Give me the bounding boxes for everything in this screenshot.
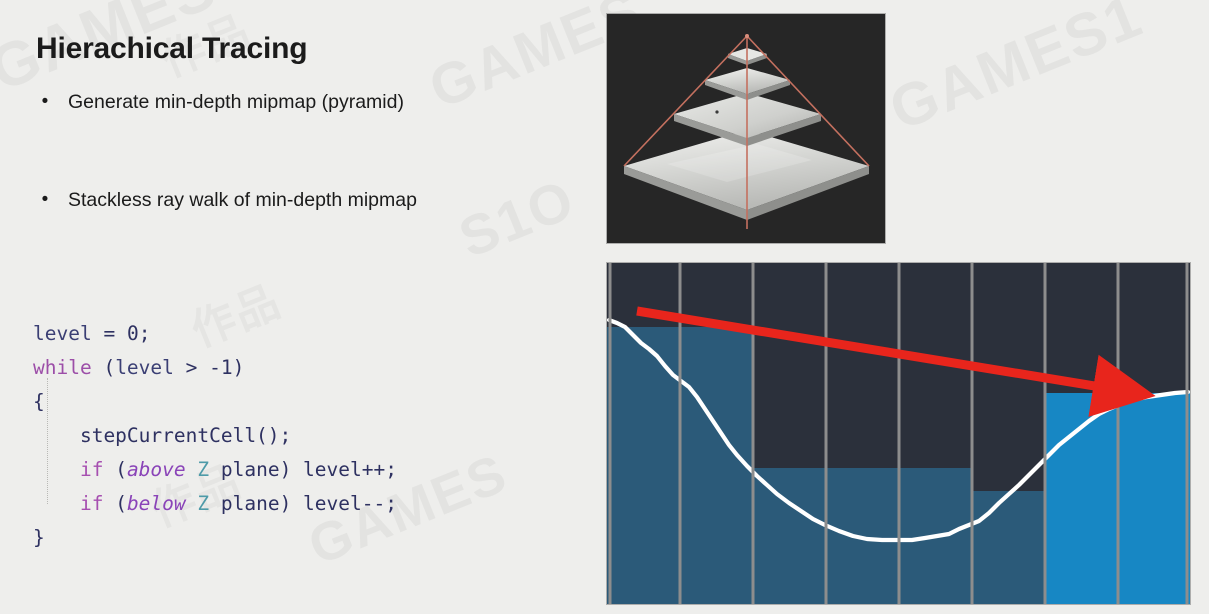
cell-fill-1: [680, 327, 753, 604]
cell-fill-7: [1118, 393, 1190, 604]
bullet-marker-icon: •: [36, 188, 54, 212]
code-token: plane) level--;: [209, 492, 397, 515]
pyramid-figure-image: [607, 14, 885, 243]
code-token: ;: [139, 322, 151, 345]
bullet-item-1: • Stackless ray walk of min-depth mipmap: [36, 188, 417, 212]
code-line-0: level = 0;: [33, 317, 397, 351]
bullet-item-0: • Generate min-depth mipmap (pyramid): [36, 90, 404, 114]
pyramid-illustration: [607, 14, 885, 243]
page-title: Hierachical Tracing: [36, 32, 307, 66]
slide-left-column: Hierachical Tracing • Generate min-depth…: [0, 0, 600, 614]
code-token: Z: [197, 492, 209, 515]
code-token: level: [115, 356, 174, 379]
code-line-3: stepCurrentCell();: [33, 419, 397, 453]
code-token: (: [103, 492, 126, 515]
code-snippet: level = 0;while (level > -1){ stepCurren…: [33, 317, 397, 555]
bullet-text-0: Generate min-depth mipmap (pyramid): [68, 90, 404, 114]
code-token: [186, 492, 198, 515]
slide-canvas: Hierachical Tracing • Generate min-depth…: [0, 0, 1209, 614]
bullet-text-1: Stackless ray walk of min-depth mipmap: [68, 188, 417, 212]
code-token: (: [103, 458, 126, 481]
pyramid-speck: [715, 110, 718, 113]
mipmap-cells-illustration: [607, 263, 1190, 604]
code-token: 0: [127, 322, 139, 345]
code-token: [33, 492, 80, 515]
code-token: above: [127, 458, 186, 481]
code-token: -1: [209, 356, 232, 379]
cell-fill-5: [972, 491, 1045, 604]
code-token: if: [80, 458, 103, 481]
code-line-1: while (level > -1): [33, 351, 397, 385]
code-token: }: [33, 526, 45, 549]
code-token: >: [174, 356, 209, 379]
code-line-6: }: [33, 521, 397, 555]
code-token: =: [92, 322, 127, 345]
cell-fill-2: [753, 468, 826, 604]
pyramid-apex-point: [745, 34, 749, 38]
code-token: while: [33, 356, 92, 379]
code-token: [33, 458, 80, 481]
code-line-5: if (below Z plane) level--;: [33, 487, 397, 521]
code-line-2: {: [33, 385, 397, 419]
code-token: below: [127, 492, 186, 515]
code-token: ): [233, 356, 245, 379]
mipmap-cells-figure-image: [607, 263, 1190, 604]
code-token: Z: [197, 458, 209, 481]
code-token: {: [33, 390, 45, 413]
code-token: level: [33, 322, 92, 345]
bullet-marker-icon: •: [36, 90, 54, 114]
code-token: (: [92, 356, 115, 379]
code-token: plane) level++;: [209, 458, 397, 481]
code-token: stepCurrentCell();: [33, 424, 291, 447]
code-line-4: if (above Z plane) level++;: [33, 453, 397, 487]
code-token: if: [80, 492, 103, 515]
code-token: [186, 458, 198, 481]
